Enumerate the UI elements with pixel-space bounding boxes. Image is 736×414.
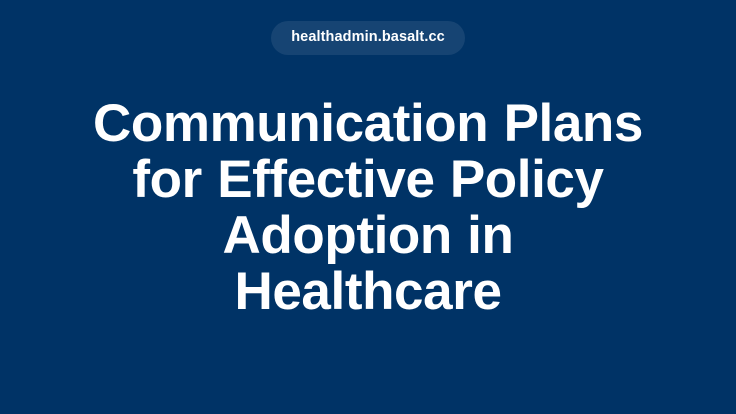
page-title: Communication Plans for Effective Policy… [48, 96, 688, 320]
title-line-3: Adoption in [48, 208, 688, 264]
title-slide: healthadmin.basalt.cc Communication Plan… [0, 0, 736, 414]
title-line-1: Communication Plans [48, 96, 688, 152]
title-line-4: Healthcare [48, 264, 688, 320]
site-url-badge: healthadmin.basalt.cc [271, 21, 465, 55]
title-line-2: for Effective Policy [48, 152, 688, 208]
headline-wrap: Communication Plans for Effective Policy… [0, 96, 736, 320]
badge-row: healthadmin.basalt.cc [0, 21, 736, 55]
